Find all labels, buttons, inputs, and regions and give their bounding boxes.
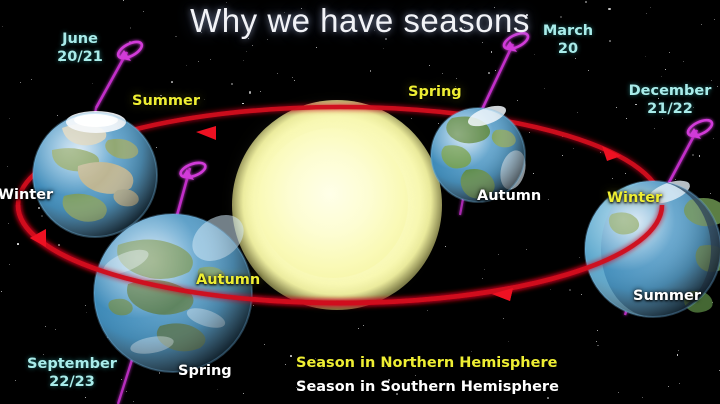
date-label-june-line2: 20/21 xyxy=(40,48,120,66)
legend-southern-hemisphere: Season in Southern Hemisphere xyxy=(296,379,559,395)
earth-march-equinox xyxy=(431,102,529,202)
date-label-december: December 21/22 xyxy=(623,82,717,118)
season-label-march-northern: Spring xyxy=(408,84,462,100)
season-label-september-northern: Autumn xyxy=(196,272,260,288)
date-label-march-line2: 20 xyxy=(528,40,608,58)
date-label-september: September 22/23 xyxy=(14,355,130,391)
season-label-june-northern: Summer xyxy=(132,93,200,109)
seasons-diagram: Why we have seasons June 20/21 March 20 … xyxy=(0,0,720,404)
season-label-march-southern: Autumn xyxy=(477,188,541,204)
date-label-march-line1: March xyxy=(528,22,608,40)
earth-june-solstice xyxy=(33,111,157,237)
date-label-june: June 20/21 xyxy=(40,30,120,66)
season-label-june-southern: Winter xyxy=(0,187,53,203)
date-label-december-line1: December xyxy=(623,82,717,100)
date-label-september-line2: 22/23 xyxy=(14,373,130,391)
date-label-september-line1: September xyxy=(14,355,130,373)
date-label-march: March 20 xyxy=(528,22,608,58)
season-label-september-southern: Spring xyxy=(178,363,232,379)
date-label-december-line2: 21/22 xyxy=(623,100,717,118)
date-label-june-line1: June xyxy=(40,30,120,48)
legend-northern-hemisphere: Season in Northern Hemisphere xyxy=(296,355,557,371)
orbit-arrow-top xyxy=(196,126,216,140)
season-label-december-southern: Summer xyxy=(633,288,701,304)
season-label-december-northern: Winter xyxy=(607,190,662,206)
